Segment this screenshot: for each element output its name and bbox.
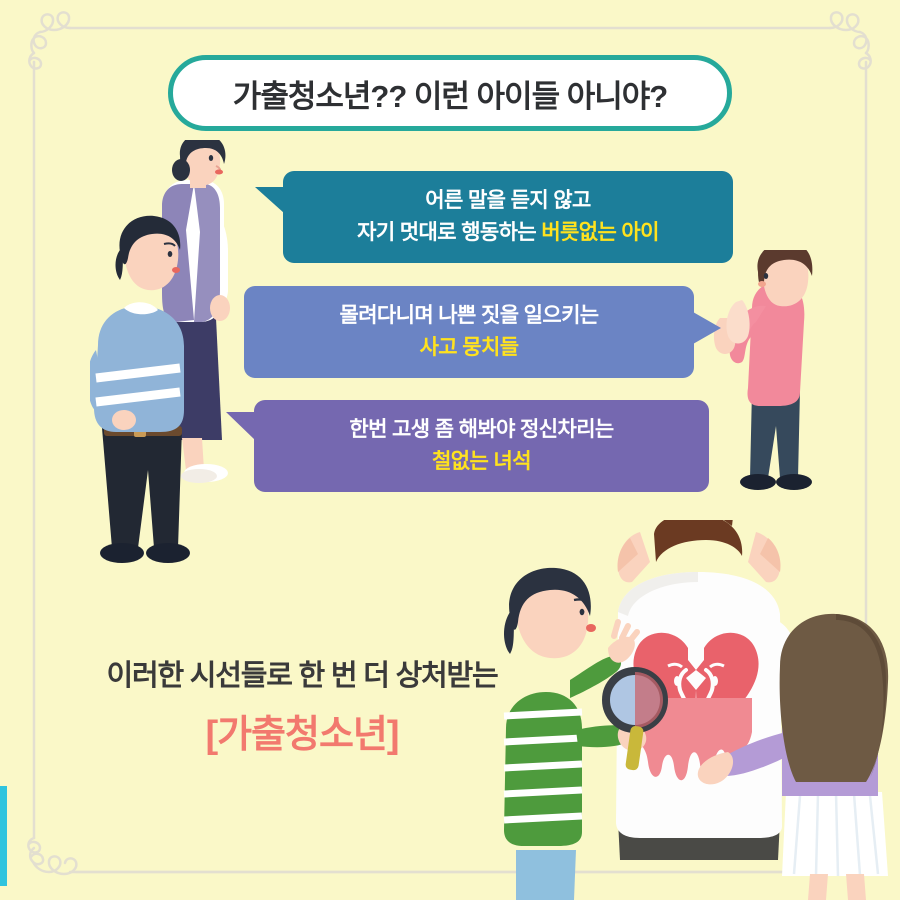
- illustration-broken-heart-group: [490, 520, 900, 900]
- caption-line-1: 이러한 시선들로 한 번 더 상처받는: [62, 652, 542, 694]
- caption-line-2: [가출청소년]: [62, 703, 542, 758]
- bubble-1-line-1: 어른 말을 듣지 않고: [425, 185, 590, 217]
- bubble-3-line-1: 한번 고생 좀 해봐야 정신차리는: [349, 414, 613, 446]
- corner-curl-top-left: [29, 12, 70, 68]
- illustration-gesturing-man: [700, 250, 830, 500]
- bubble-2-line-2: 사고 뭉치들: [420, 332, 519, 364]
- figure-man-blue-sweater: [90, 216, 190, 563]
- infographic-canvas: 가출청소년?? 이런 아이들 아니야? 어른 말을 듣지 않고 자기 멋대로 행…: [0, 0, 900, 900]
- bubble-3-highlight: 철없는 녀석: [432, 450, 531, 473]
- bubble-1-line-2-plain: 자기 멋대로 행동하는: [357, 221, 541, 244]
- page-title: 가출청소년?? 이런 아이들 아니야?: [233, 71, 667, 116]
- speech-bubble-1-tail: [255, 187, 284, 213]
- bottom-caption: 이러한 시선들로 한 번 더 상처받는 [가출청소년]: [62, 652, 542, 758]
- left-edge-accent-bar: [0, 786, 7, 886]
- speech-bubble-2-tail: [693, 312, 721, 344]
- speech-bubble-1: 어른 말을 듣지 않고 자기 멋대로 행동하는 버릇없는 아이: [283, 171, 733, 263]
- speech-bubble-2: 몰려다니며 나쁜 짓을 일으키는 사고 뭉치들: [244, 286, 694, 378]
- corner-curl-top-right: [830, 12, 871, 68]
- bubble-2-highlight: 사고 뭉치들: [420, 336, 519, 359]
- speech-bubble-3: 한번 고생 좀 해봐야 정신차리는 철없는 녀석: [254, 400, 709, 492]
- title-pill: 가출청소년?? 이런 아이들 아니야?: [168, 55, 732, 131]
- bubble-1-line-2: 자기 멋대로 행동하는 버릇없는 아이: [357, 217, 659, 249]
- bubble-2-line-1: 몰려다니며 나쁜 짓을 일으키는: [339, 300, 598, 332]
- bubble-1-highlight: 버릇없는 아이: [541, 221, 659, 244]
- bubble-3-line-2: 철없는 녀석: [432, 446, 531, 478]
- speech-bubble-3-tail: [226, 412, 255, 440]
